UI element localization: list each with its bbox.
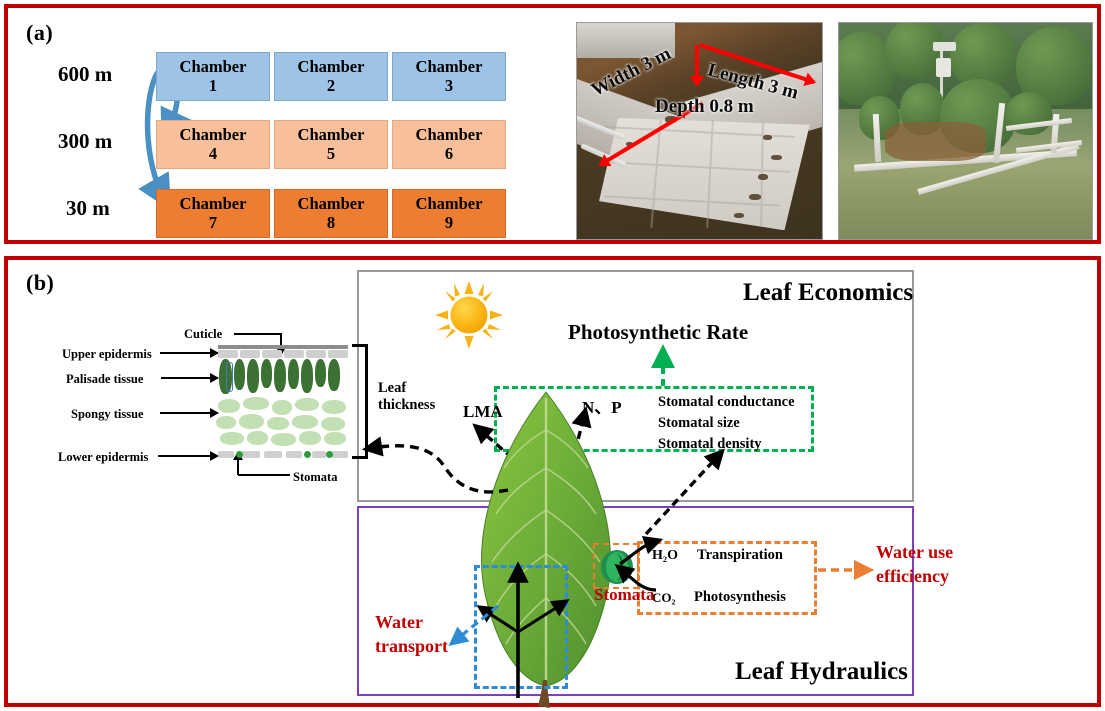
chamber-7-name: Chamber [180,195,247,213]
photosynthetic-rate-arrow [653,348,673,388]
depth-dimension-arrow [695,45,699,85]
chamber-4-number: 4 [209,145,217,163]
stomatal-conductance-label: Stomatal conductance [658,392,795,413]
panel-b: (b) Leaf Economics Leaf Hydraulics [4,256,1101,707]
chamber-6[interactable]: Chamber 6 [392,120,506,169]
chamber-8-name: Chamber [298,195,365,213]
field-photograph [838,22,1093,240]
elevation-label-600m: 600 m [58,62,112,87]
water-use-efficiency-label: Water use efficiency [876,540,953,589]
chamber-4[interactable]: Chamber 4 [156,120,270,169]
palisade-leader [161,377,218,379]
lower-epidermis-leader [158,455,218,457]
weather-sensor [933,42,956,51]
weather-shield [936,58,951,77]
stomata-leader-h [238,474,290,476]
chamber-3-number: 3 [445,77,453,95]
transpiration-label: Transpiration [697,547,783,564]
stomata-pore [236,451,243,458]
chamber-8[interactable]: Chamber 8 [274,189,388,238]
chamber-6-number: 6 [445,145,453,163]
chamber-5-number: 5 [327,145,335,163]
chamber-2-number: 2 [327,77,335,95]
stomata-leader-v [237,460,239,475]
cuticle-layer [218,345,348,349]
leaf-economics-title: Leaf Economics [743,279,913,307]
wue-line1: Water use [876,540,953,564]
elevation-label-30m: 30 m [66,196,110,221]
chamber-9-number: 9 [445,214,453,232]
pit-debris [734,213,744,218]
upper-epidermis-layer [218,350,348,358]
pit-debris [758,174,768,180]
chamber-1[interactable]: Chamber 1 [156,52,270,101]
chamber-7-number: 7 [209,214,217,232]
spongy-leader [160,412,218,414]
tree [950,23,1016,88]
spongy-tissue-label: Spongy tissue [71,407,144,422]
water-transport-line1: Water [375,610,448,634]
chamber-5-name: Chamber [298,126,365,144]
stomata-pore [326,451,333,458]
photosynthetic-rate-label: Photosynthetic Rate [568,320,748,345]
chamber-8-number: 8 [327,214,335,232]
chamber-7[interactable]: Chamber 7 [156,189,270,238]
upper-epidermis-label: Upper epidermis [62,347,152,362]
stomata-pore [304,451,311,458]
panel-a: (a) 600 m 300 m 30 m Chamber 1 Chamber 2… [4,4,1101,244]
cuticle-leader-h [234,333,282,335]
elevation-label-300m: 300 m [58,129,112,154]
wue-arrow [816,560,876,580]
chamber-3[interactable]: Chamber 3 [392,52,506,101]
chamber-5[interactable]: Chamber 5 [274,120,388,169]
cuticle-label: Cuticle [184,327,222,342]
chamber-3-name: Chamber [416,58,483,76]
chamber-1-name: Chamber [180,58,247,76]
sun-icon [435,281,503,349]
lower-epidermis-layer [218,450,348,459]
figure-root: (a) 600 m 300 m 30 m Chamber 1 Chamber 2… [0,0,1105,711]
chamber-2[interactable]: Chamber 2 [274,52,388,101]
leaf-thickness-line1: Leaf [378,380,435,397]
water-transport-label: Water transport [375,610,448,659]
pit-debris [771,155,782,160]
palisade-tissue-label: Palisade tissue [66,372,143,387]
stomatal-traits-list: Stomatal conductance Stomatal size Stoma… [658,392,795,455]
bare-soil [885,122,986,161]
stomata-anatomy-label: Stomata [293,470,337,485]
palisade-cell-outline [226,362,233,392]
photosynthesis-label: Photosynthesis [694,589,786,606]
leaf-thickness-line2: thickness [378,397,435,414]
panel-b-letter: (b) [26,270,54,296]
depth-label: Depth 0.8 m [655,96,754,118]
chamber-6-name: Chamber [416,126,483,144]
water-transport-line2: transport [375,634,448,658]
pit-debris [749,194,761,200]
palisade-layer [218,359,348,395]
chamber-9-name: Chamber [416,195,483,213]
spongy-layer [216,397,350,447]
stomatal-size-label: Stomatal size [658,413,795,434]
leaf-thickness-label: Leaf thickness [378,380,435,415]
water-transport-pointer [446,600,506,650]
chamber-1-number: 1 [209,77,217,95]
leaf-hydraulics-title: Leaf Hydraulics [735,658,908,686]
panel-a-letter: (a) [26,20,53,46]
upper-epidermis-leader [160,352,218,354]
wue-line2: efficiency [876,564,953,588]
leaf-thickness-connector [358,430,518,500]
chamber-2-name: Chamber [298,58,365,76]
lower-epidermis-label: Lower epidermis [58,450,148,465]
pit-photograph: Width 3 m Length 3 m Depth 0.8 m [576,22,823,240]
chamber-4-name: Chamber [180,126,247,144]
chamber-9[interactable]: Chamber 9 [392,189,506,238]
